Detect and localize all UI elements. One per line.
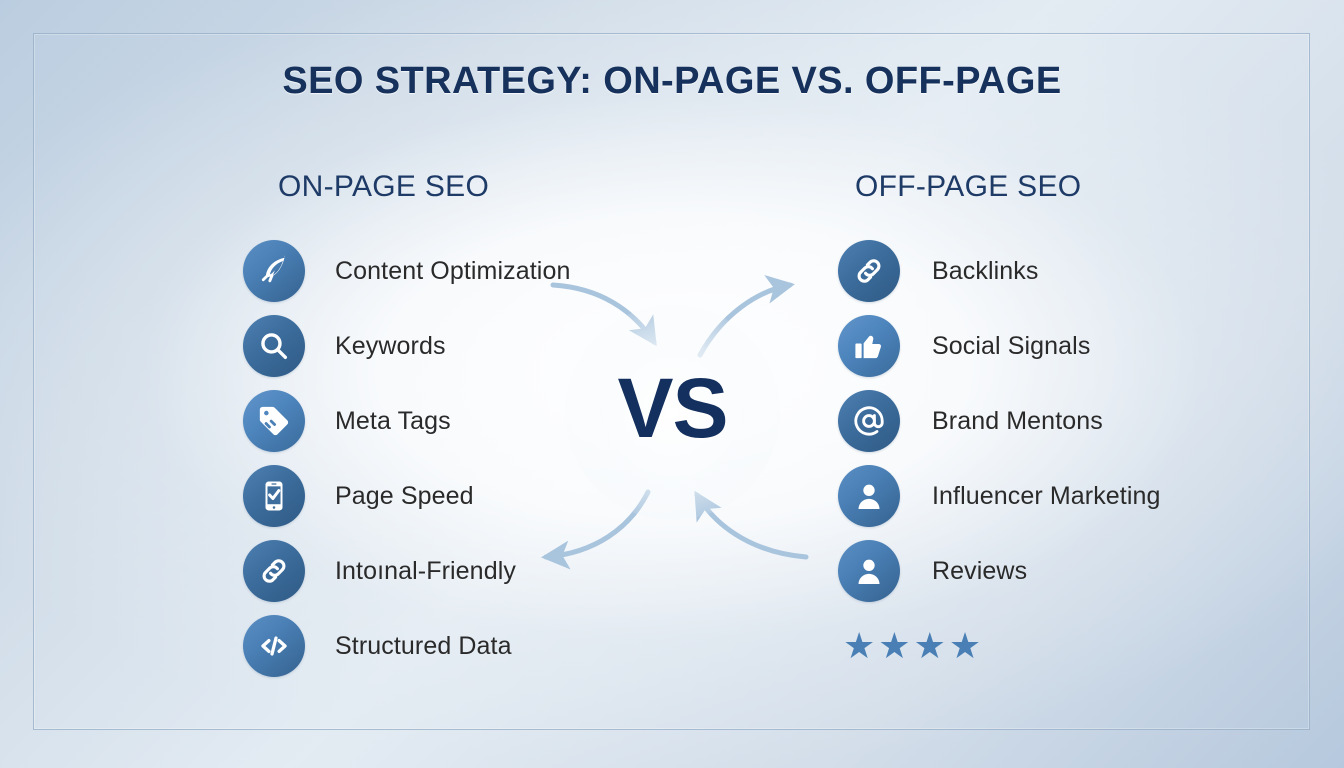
star-icon: ★	[914, 628, 946, 664]
person-icon	[838, 540, 900, 602]
list-item-meta-tags[interactable]: Meta Tags	[243, 390, 570, 452]
star-icon: ★	[949, 628, 981, 664]
list-item-brand-mentions[interactable]: Brand Mentons	[838, 390, 1161, 452]
list-item-social-signals[interactable]: Social Signals	[838, 315, 1161, 377]
infographic-canvas: SEO STRATEGY: ON-PAGE VS. OFF-PAGE ON-PA…	[0, 0, 1344, 768]
list-item-page-speed[interactable]: Page Speed	[243, 465, 570, 527]
list-item-backlinks[interactable]: Backlinks	[838, 240, 1161, 302]
list-item-label: Page Speed	[335, 482, 474, 511]
at-sign-icon	[838, 390, 900, 452]
thumbs-up-icon	[838, 315, 900, 377]
list-item-structured-data[interactable]: Structured Data	[243, 615, 570, 677]
page-title: SEO STRATEGY: ON-PAGE VS. OFF-PAGE	[0, 60, 1344, 103]
list-item-label: Content Optimization	[335, 257, 570, 286]
mobile-check-icon	[243, 465, 305, 527]
list-item-label: Meta Tags	[335, 407, 451, 436]
on-page-seo-list: Content Optimization Keywords Meta Tags	[243, 240, 570, 690]
magnifier-icon	[243, 315, 305, 377]
vs-label: VS	[565, 360, 780, 457]
list-item-keywords[interactable]: Keywords	[243, 315, 570, 377]
list-item-mobile-friendly[interactable]: Intoınal-Friendly	[243, 540, 570, 602]
list-item-label: Backlinks	[932, 257, 1039, 286]
list-item-label: Brand Mentons	[932, 407, 1103, 436]
list-item-label: Reviews	[932, 557, 1027, 586]
list-item-reviews[interactable]: Reviews	[838, 540, 1161, 602]
star-icon: ★	[843, 628, 875, 664]
list-item-label: Structured Data	[335, 632, 512, 661]
list-item-label: Keywords	[335, 332, 446, 361]
left-column-heading: ON-PAGE SEO	[278, 170, 489, 204]
list-item-content-optimization[interactable]: Content Optimization	[243, 240, 570, 302]
link-icon	[838, 240, 900, 302]
link-icon	[243, 540, 305, 602]
rating-stars: ★ ★ ★ ★	[843, 628, 981, 664]
code-icon	[243, 615, 305, 677]
tag-icon	[243, 390, 305, 452]
list-item-influencer-marketing[interactable]: Influencer Marketing	[838, 465, 1161, 527]
person-icon	[838, 465, 900, 527]
list-item-label: Intoınal-Friendly	[335, 557, 516, 586]
right-column-heading: OFF-PAGE SEO	[855, 170, 1081, 204]
feather-icon	[243, 240, 305, 302]
list-item-label: Influencer Marketing	[932, 482, 1161, 511]
star-icon: ★	[878, 628, 910, 664]
list-item-label: Social Signals	[932, 332, 1090, 361]
off-page-seo-list: Backlinks Social Signals Brand Mentons	[838, 240, 1161, 615]
